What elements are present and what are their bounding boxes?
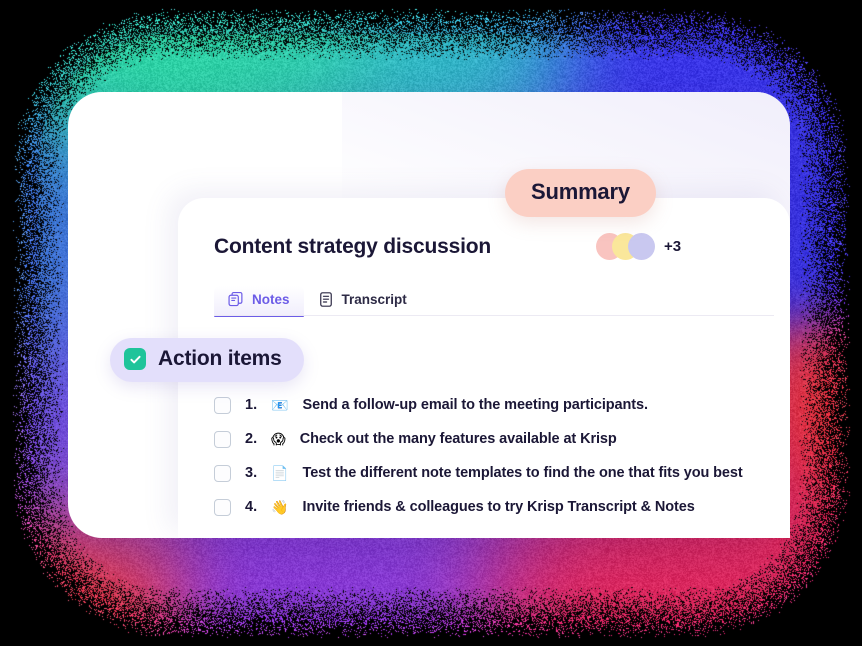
checkmark-icon [124,348,146,370]
tab-notes-label: Notes [252,292,290,307]
list-item[interactable]: 2. 😱 Check out the many features availab… [214,422,776,456]
list-item-index: 3. [245,465,257,481]
action-items-badge: Action items [110,338,304,382]
tab-transcript[interactable]: Transcript [304,286,421,316]
avatar[interactable] [628,233,655,260]
action-item-checkbox[interactable] [214,465,231,482]
summary-pill[interactable]: Summary [505,169,656,217]
avatar-cluster[interactable]: +3 [596,233,681,260]
tab-bar: Notes Transcript [214,278,790,316]
list-item-index: 2. [245,431,257,447]
list-item-text: Check out the many features available at… [300,431,617,447]
waving-hand-emoji: 👋 [271,500,288,514]
panel-header: Content strategy discussion +3 [214,224,790,270]
page-title: Content strategy discussion [214,224,790,270]
list-item[interactable]: 1. 📧 Send a follow-up email to the meeti… [214,388,776,422]
tab-transcript-label: Transcript [342,292,407,307]
list-item-text: Invite friends & colleagues to try Krisp… [303,499,695,515]
list-item[interactable]: 3. 📄 Test the different note templates t… [214,456,776,490]
list-item-text: Test the different note templates to fin… [303,465,743,481]
list-item[interactable]: 4. 👋 Invite friends & colleagues to try … [214,490,776,524]
list-item-index: 4. [245,499,257,515]
page-emoji: 📄 [271,466,288,480]
document-lines-icon [318,291,334,308]
action-items-list: 1. 📧 Send a follow-up email to the meeti… [214,388,776,524]
list-item-text: Send a follow-up email to the meeting pa… [303,397,648,413]
tab-divider [214,315,774,316]
list-item-index: 1. [245,397,257,413]
action-items-label: Action items [158,347,282,371]
action-item-checkbox[interactable] [214,397,231,414]
email-emoji: 📧 [271,398,288,412]
action-item-checkbox[interactable] [214,431,231,448]
avatar-overflow-count: +3 [664,238,681,255]
sticky-notes-icon [228,291,244,308]
screaming-face-emoji: 😱 [271,432,286,446]
action-item-checkbox[interactable] [214,499,231,516]
summary-pill-label: Summary [531,179,630,204]
tab-notes[interactable]: Notes [214,286,304,316]
